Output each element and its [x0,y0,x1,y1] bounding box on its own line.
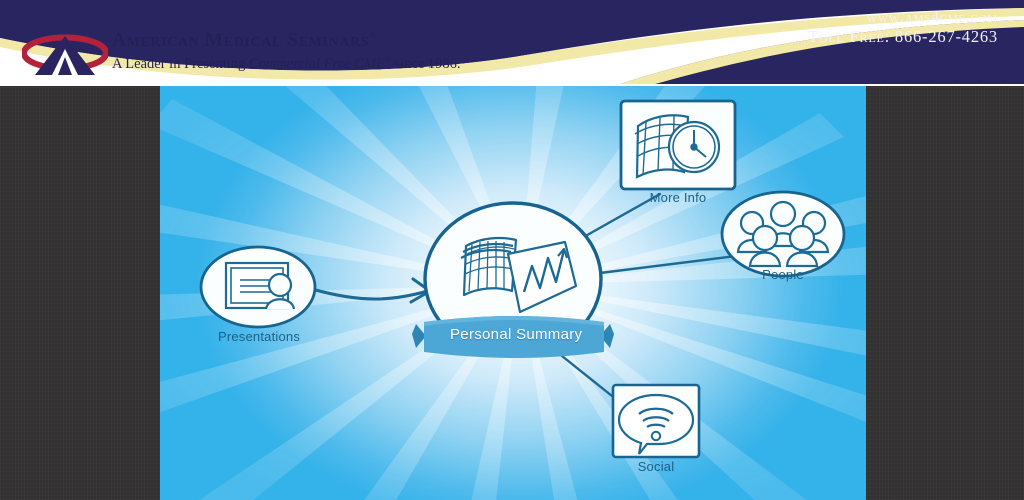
node-social[interactable] [613,385,699,457]
calendar-clock-icon [635,115,719,177]
connector-social [552,348,622,404]
node-presentations[interactable] [201,247,315,327]
presentation-board-presenter-icon [226,263,294,309]
ams-triangle-ellipse-logo-icon [22,33,108,77]
ams-logo[interactable] [22,33,108,77]
slide-canvas: Personal Summary Presentations More Info… [160,86,866,500]
page-root: American Medical Seminars® A Leader in P… [0,0,1024,500]
brand-tagline: A Leader in Presenting Commercial Free C… [112,55,461,73]
tagline-prefix: A Leader in Presenting [112,55,249,71]
label-people: People [724,267,842,282]
mind-map-diagram [160,86,866,500]
connector-presentations [312,289,428,299]
label-presentations: Presentations [200,329,318,344]
tagline-suffix: since 1986. [391,55,461,71]
site-header: American Medical Seminars® A Leader in P… [0,0,1024,86]
node-people[interactable] [722,192,844,276]
brand-lockup: American Medical Seminars® A Leader in P… [112,31,461,72]
label-social: Social [597,459,715,474]
brand-title-registered: ® [369,31,376,41]
label-more-info: More Info [619,190,737,205]
hub-label: Personal Summary [450,326,582,343]
toll-free-phone[interactable]: Toll Free: 866-267-4263 [808,27,998,48]
website-link[interactable]: www.ams4cme.com [808,8,998,27]
brand-title-text: American Medical Seminars [112,30,369,51]
node-more-info[interactable] [621,101,735,189]
brand-title: American Medical Seminars® [112,31,461,51]
tagline-emphasis: Commercial Free CME [249,55,385,71]
header-contact-info: www.ams4cme.com Toll Free: 866-267-4263 [808,8,998,48]
